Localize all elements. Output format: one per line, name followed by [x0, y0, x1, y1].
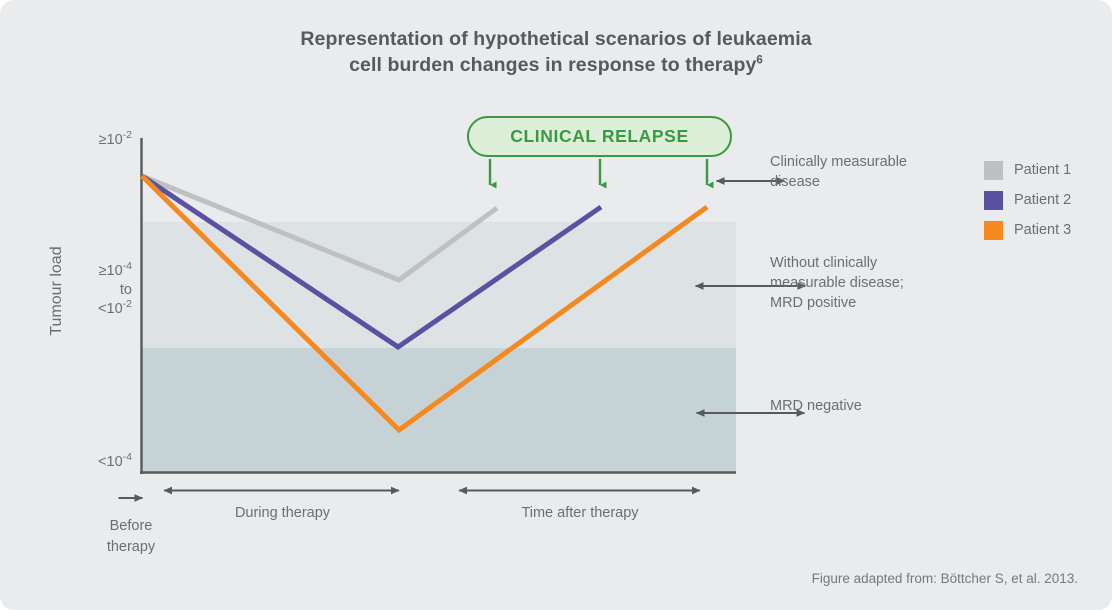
- y-axis-tick-mid-exp3: -2: [123, 298, 132, 310]
- band-note-clinically-measurable-line2: disease: [770, 174, 820, 190]
- y-axis-tick-bottom: <10-4: [62, 453, 132, 472]
- y-axis-tick-bottom-text: <10: [98, 454, 123, 470]
- legend-swatch-patient-1: [984, 161, 1003, 180]
- legend-item-patient-1: Patient 1: [984, 155, 1104, 185]
- y-axis-tick-bottom-exp: -4: [123, 451, 132, 463]
- band-note-mrd-positive: Without clinically measurable disease; M…: [770, 253, 960, 313]
- legend-label-patient-3: Patient 3: [1014, 222, 1071, 238]
- x-axis-label-time-after-therapy: Time after therapy: [480, 503, 680, 524]
- x-axis-label-before-therapy: Before therapy: [85, 516, 177, 558]
- figure-card: Representation of hypothetical scenarios…: [0, 0, 1112, 610]
- x-axis-label-before-therapy-line1: Before: [110, 518, 153, 534]
- band-note-mrd-positive-line3: MRD positive: [770, 295, 856, 311]
- clinical-relapse-callout: CLINICAL RELAPSE: [467, 116, 732, 157]
- band-mrd-negative: [142, 348, 736, 473]
- band-note-mrd-negative-line1: MRD negative: [770, 398, 862, 414]
- y-axis-tick-mid-exp1: -4: [123, 260, 132, 272]
- x-axis-arrows: [119, 491, 701, 499]
- legend-swatch-patient-2: [984, 191, 1003, 210]
- legend-label-patient-1: Patient 1: [1014, 162, 1071, 178]
- x-axis-label-during-therapy: During therapy: [190, 503, 375, 524]
- y-axis-tick-mid: ≥10-4 to <10-2: [62, 262, 132, 319]
- band-note-mrd-positive-line1: Without clinically: [770, 255, 877, 271]
- legend: Patient 1 Patient 2 Patient 3: [984, 155, 1104, 245]
- clinical-relapse-label: CLINICAL RELAPSE: [510, 126, 688, 147]
- legend-item-patient-2: Patient 2: [984, 185, 1104, 215]
- y-axis-tick-top-exp: -2: [123, 129, 132, 141]
- band-mrd-positive: [142, 222, 736, 348]
- y-axis-tick-mid-line1: ≥10: [99, 263, 123, 279]
- y-axis-tick-top-text: ≥10: [99, 132, 123, 148]
- band-rectangles: [142, 141, 736, 473]
- y-axis-tick-top: ≥10-2: [62, 131, 132, 150]
- legend-item-patient-3: Patient 3: [984, 215, 1104, 245]
- x-axis-label-before-therapy-line2: therapy: [107, 539, 155, 555]
- band-note-clinically-measurable-line1: Clinically measurable: [770, 154, 907, 170]
- band-note-mrd-negative: MRD negative: [770, 396, 960, 416]
- legend-label-patient-2: Patient 2: [1014, 192, 1071, 208]
- band-note-clinically-measurable: Clinically measurable disease: [770, 152, 960, 192]
- legend-swatch-patient-3: [984, 221, 1003, 240]
- y-axis-tick-mid-line3: <10: [98, 301, 123, 317]
- figure-source-note: Figure adapted from: Böttcher S, et al. …: [0, 571, 1078, 586]
- y-axis-tick-mid-line2: to: [120, 282, 132, 298]
- band-note-mrd-positive-line2: measurable disease;: [770, 275, 904, 291]
